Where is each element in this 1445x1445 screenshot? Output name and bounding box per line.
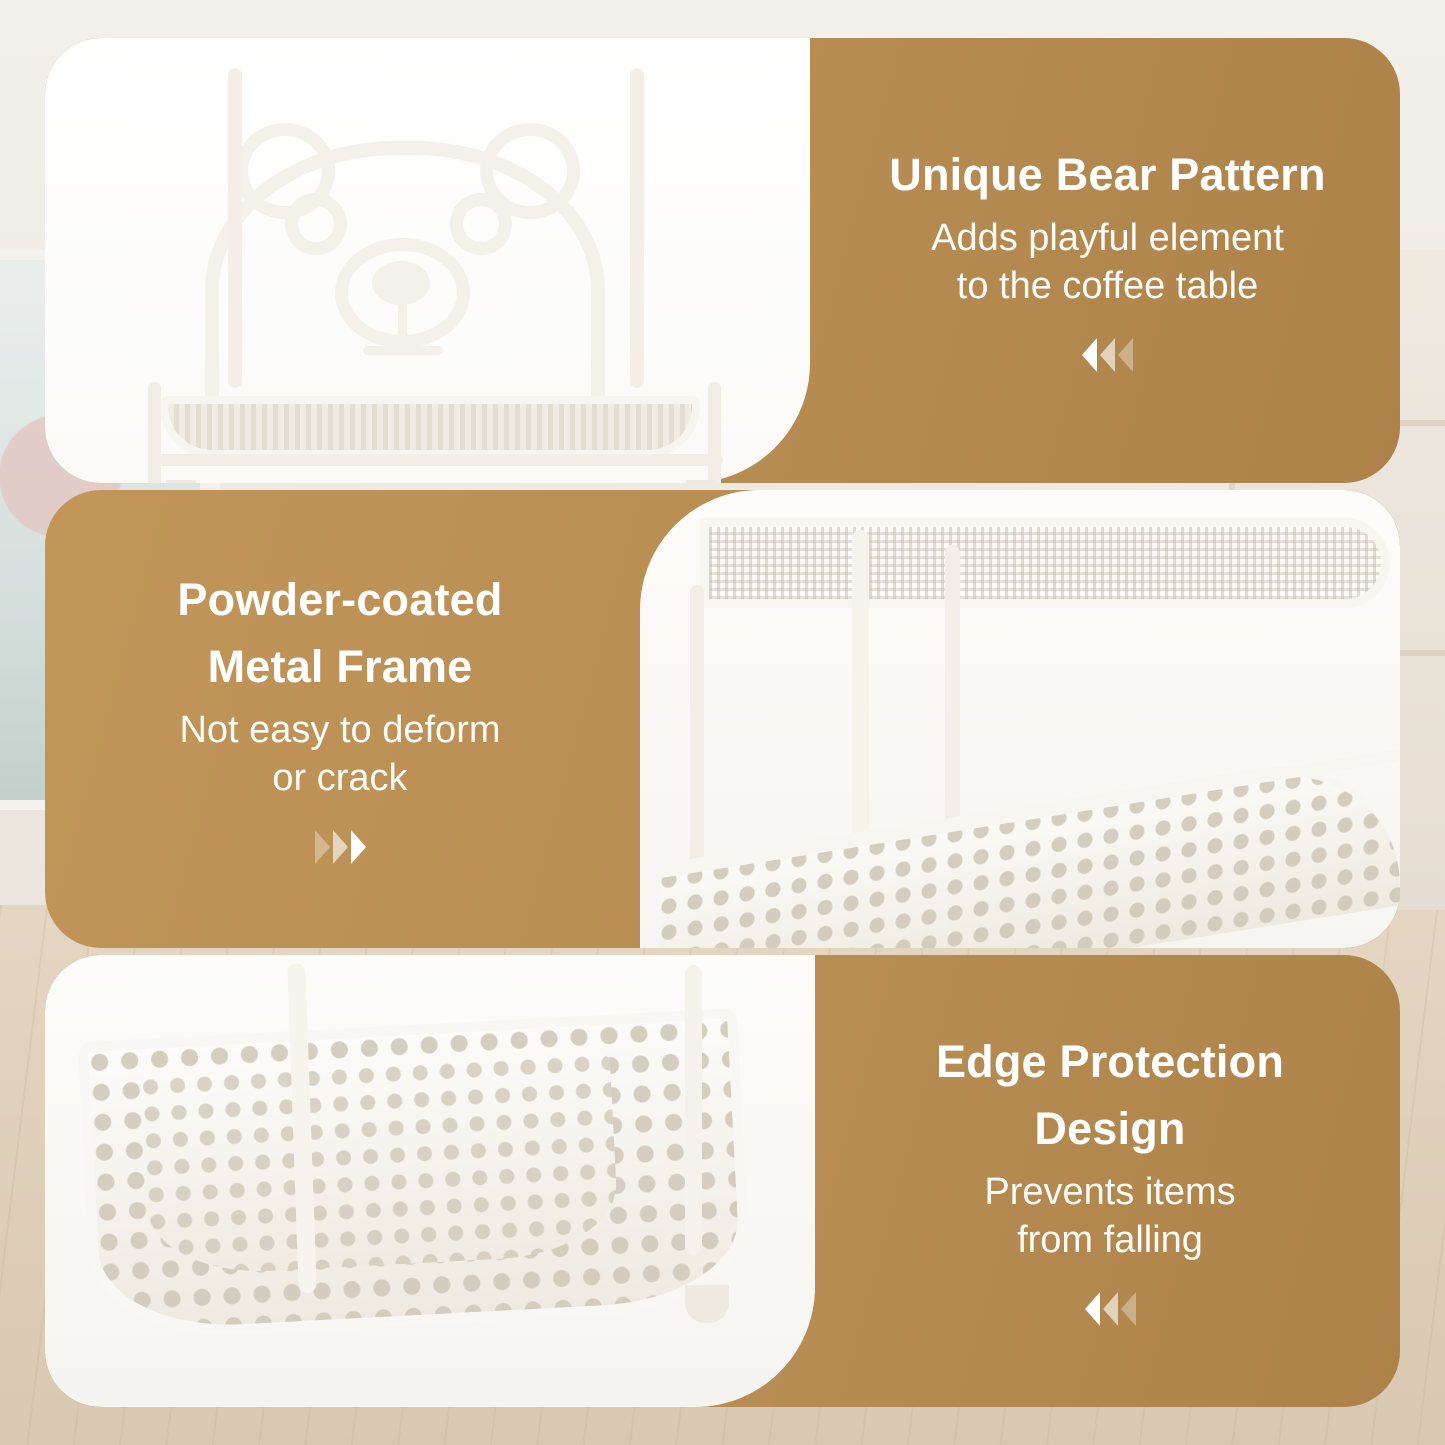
caster-wheel (686, 480, 716, 483)
panel-1-subtext-line-2: to the coffee table (957, 263, 1258, 311)
frame-post-left (228, 68, 242, 388)
chevron-left-icon (1121, 1292, 1136, 1326)
table-leg-right (708, 382, 721, 483)
chevron-left-icon (1100, 338, 1115, 372)
panel-3-subtext-line-1: Prevents items (984, 1169, 1235, 1217)
panel-2-headline-line-1: Powder-coated (177, 573, 502, 626)
panel-2-subtext-line-2: or crack (272, 755, 407, 803)
panel-3-text-block: Edge Protection Design Prevents items fr… (820, 955, 1400, 1407)
panel-1-text-block: Unique Bear Pattern Adds playful element… (815, 38, 1400, 483)
panel-2-arrow-right-icon (315, 829, 366, 865)
product-photo-metal-frame (640, 490, 1400, 948)
table-rail (148, 454, 723, 466)
panel-1-subtext-line-1: Adds playful element (931, 215, 1284, 263)
frame-post-front (852, 530, 869, 850)
frame-post-right (630, 68, 644, 388)
bear-nose (372, 261, 430, 305)
chevron-left-icon (1118, 338, 1133, 372)
product-photo-bear-pattern (45, 38, 810, 483)
feature-panel-2: Powder-coated Metal Frame Not easy to de… (45, 490, 1400, 948)
frame-post-right (685, 965, 702, 1255)
panel-2-subtext-line-1: Not easy to deform (179, 707, 500, 755)
chevron-right-icon (351, 830, 366, 864)
bear-eye-right (450, 193, 512, 255)
chevron-left-icon (1103, 1292, 1118, 1326)
product-photo-edge-protection (45, 955, 815, 1407)
panel-3-subtext-line-2: from falling (1017, 1217, 1203, 1265)
bear-mouth-horizontal (363, 346, 443, 355)
chevron-left-icon (1085, 1292, 1100, 1326)
panel-1-headline: Unique Bear Pattern (889, 148, 1325, 201)
chevron-right-icon (333, 830, 348, 864)
slatted-tabletop (160, 396, 700, 458)
frame-post-back (945, 545, 960, 835)
chevron-right-icon (315, 830, 330, 864)
feature-panel-3: Edge Protection Design Prevents items fr… (45, 955, 1400, 1407)
panel-2-text-block: Powder-coated Metal Frame Not easy to de… (45, 490, 635, 948)
caster-wheel (685, 1285, 729, 1323)
mesh-tabletop (700, 518, 1390, 608)
panel-3-headline-line-2: Design (1034, 1102, 1185, 1155)
panel-2-headline-line-2: Metal Frame (208, 640, 473, 693)
panel-3-headline-line-1: Edge Protection (936, 1035, 1284, 1088)
feature-panel-1: Unique Bear Pattern Adds playful element… (45, 38, 1400, 483)
feature-collage: Unique Bear Pattern Adds playful element… (0, 0, 1445, 1445)
basket-inner-wall (140, 1053, 620, 1277)
caster-wheel (166, 480, 196, 483)
chevron-left-icon (1082, 338, 1097, 372)
table-leg-left (148, 382, 161, 483)
panel-1-arrow-left-icon (1082, 337, 1133, 373)
panel-3-arrow-left-icon (1085, 1291, 1136, 1327)
frame-post-side (690, 585, 704, 865)
bear-eye-left (285, 193, 347, 255)
table-top-assembly (120, 368, 740, 483)
